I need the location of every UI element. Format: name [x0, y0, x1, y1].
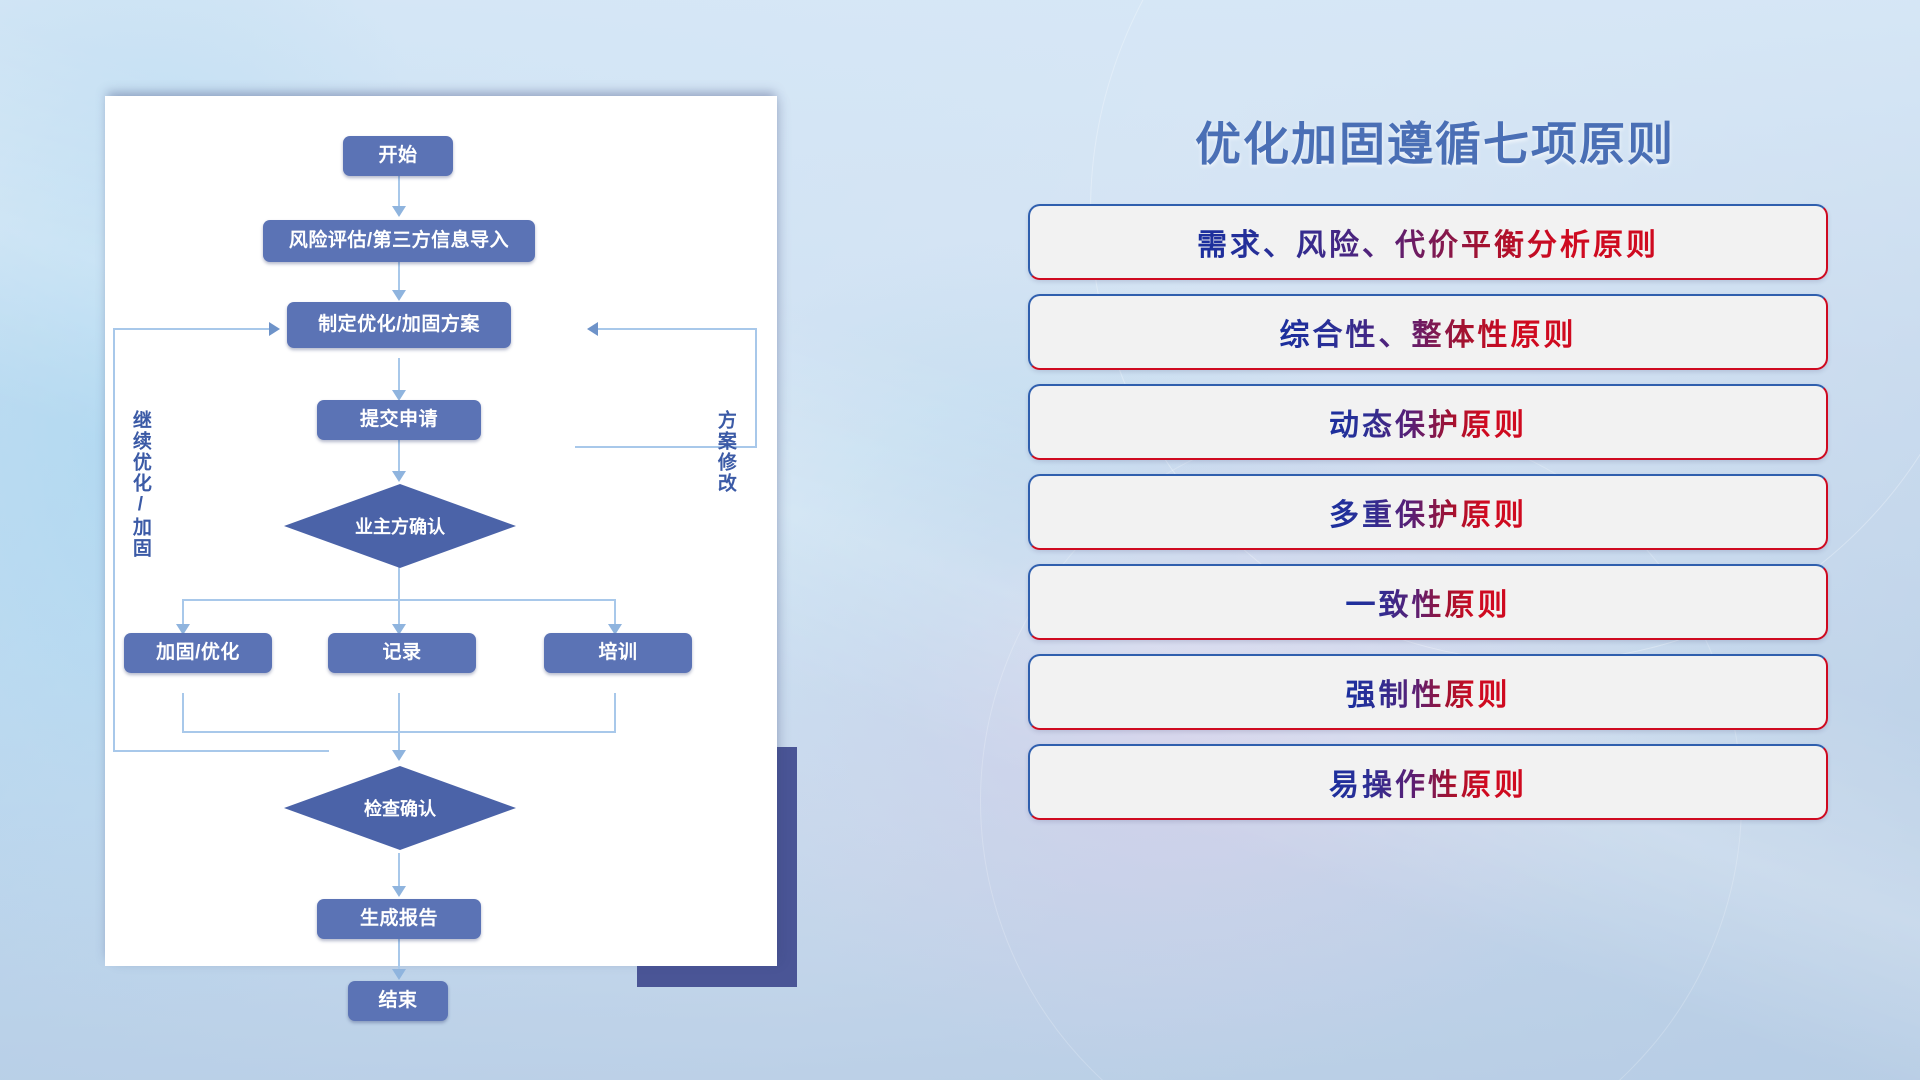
edge-check-to-report-arrow: [392, 886, 406, 897]
flow-decision-owner-confirm[interactable]: 业主方确认: [284, 484, 516, 568]
flow-node-record[interactable]: 记录: [328, 633, 476, 673]
flow-node-reinforce-label: 加固/优化: [156, 643, 240, 664]
flow-node-generate-report-label: 生成报告: [360, 909, 438, 930]
edge-merge-left: [182, 693, 184, 733]
edge-report-to-end: [398, 939, 400, 973]
edge-report-to-end-arrow: [392, 969, 406, 980]
edge-left-loop-bottom: [113, 750, 329, 752]
flow-decision-check-confirm[interactable]: 检查确认: [284, 766, 516, 850]
flow-node-training-label: 培训: [598, 643, 637, 664]
principles-panel: 优化加固遵循七项原则 需求、风险、代价平衡分析原则 综合性、整体性原则 动态保护…: [1010, 90, 1850, 1020]
edge-merge-mid: [398, 693, 400, 755]
flow-node-submit-label: 提交申请: [360, 410, 438, 431]
principle-card-7[interactable]: 易操作性原则: [1028, 744, 1828, 820]
principle-card-3[interactable]: 动态保护原则: [1028, 384, 1828, 460]
edge-start-to-risk: [398, 174, 400, 210]
flow-node-submit[interactable]: 提交申请: [317, 400, 481, 440]
edge-left-loop-vertical: [113, 328, 115, 752]
principle-card-1[interactable]: 需求、风险、代价平衡分析原则: [1028, 204, 1828, 280]
principle-card-3-label: 动态保护原则: [1329, 400, 1527, 444]
edge-right-loop-vertical: [755, 328, 757, 448]
edge-owner-to-fanout: [398, 566, 400, 600]
edge-plan-to-submit: [398, 358, 400, 394]
principle-card-2[interactable]: 综合性、整体性原则: [1028, 294, 1828, 370]
principle-card-6-label: 强制性原则: [1346, 670, 1511, 714]
flow-node-risk-assessment[interactable]: 风险评估/第三方信息导入: [263, 220, 535, 262]
edge-left-loop-top: [113, 328, 271, 330]
edge-risk-to-plan-arrow: [392, 290, 406, 301]
principle-card-4[interactable]: 多重保护原则: [1028, 474, 1828, 550]
edge-left-loop-arrow: [269, 322, 280, 336]
principle-card-4-label: 多重保护原则: [1329, 490, 1527, 534]
flow-node-end[interactable]: 结束: [348, 981, 448, 1021]
principles-list: 需求、风险、代价平衡分析原则 综合性、整体性原则 动态保护原则 多重保护原则 一…: [1028, 204, 1828, 834]
flow-node-plan-label: 制定优化/加固方案: [318, 315, 480, 336]
flow-edge-label-plan-revision: 方案修改: [714, 410, 736, 494]
principle-card-6[interactable]: 强制性原则: [1028, 654, 1828, 730]
principles-panel-title: 优化加固遵循七项原则: [1145, 108, 1725, 174]
flow-node-end-label: 结束: [378, 991, 417, 1012]
flowchart-canvas: 开始 风险评估/第三方信息导入 制定优化/加固方案 提交申请 业主方确认 加固/…: [105, 96, 777, 966]
edge-right-loop-top: [595, 328, 757, 330]
principle-card-2-label: 综合性、整体性原则: [1280, 310, 1577, 354]
flow-decision-check-confirm-label: 检查确认: [364, 795, 436, 821]
flow-node-start[interactable]: 开始: [343, 136, 453, 176]
flow-edge-label-continue-optimize: 继续优化/加固: [129, 410, 151, 559]
flowchart-card: 开始 风险评估/第三方信息导入 制定优化/加固方案 提交申请 业主方确认 加固/…: [105, 96, 777, 966]
flow-node-risk-assessment-label: 风险评估/第三方信息导入: [289, 231, 509, 252]
principle-card-5[interactable]: 一致性原则: [1028, 564, 1828, 640]
flow-node-reinforce[interactable]: 加固/优化: [124, 633, 272, 673]
principle-card-7-label: 易操作性原则: [1329, 760, 1527, 804]
edge-start-to-risk-arrow: [392, 206, 406, 217]
flow-node-record-label: 记录: [382, 643, 421, 664]
principle-card-5-label: 一致性原则: [1346, 580, 1511, 624]
edge-merge-arrow: [392, 750, 406, 761]
flow-node-plan[interactable]: 制定优化/加固方案: [287, 302, 511, 348]
edge-risk-to-plan: [398, 258, 400, 294]
edge-right-loop-arrow: [587, 322, 598, 336]
edge-merge-right: [614, 693, 616, 733]
flow-decision-owner-confirm-label: 业主方确认: [355, 513, 445, 539]
flow-node-generate-report[interactable]: 生成报告: [317, 899, 481, 939]
principle-card-1-label: 需求、风险、代价平衡分析原则: [1197, 220, 1659, 264]
flow-node-start-label: 开始: [378, 146, 417, 167]
flow-node-training[interactable]: 培训: [544, 633, 692, 673]
edge-submit-to-owner-arrow: [392, 471, 406, 482]
